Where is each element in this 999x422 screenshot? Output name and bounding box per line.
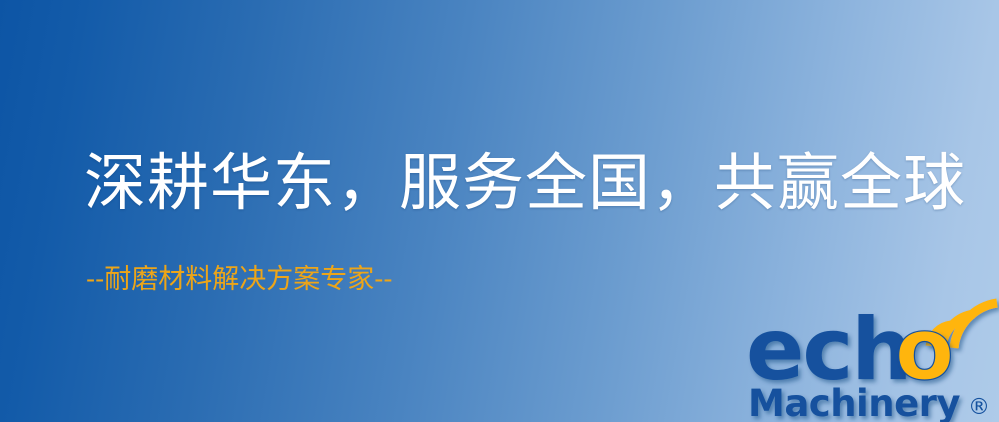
banner-subtitle: --耐磨材料解决方案专家-- — [86, 266, 393, 293]
registered-trademark-icon: ® — [968, 395, 990, 420]
promo-banner: 深耕华东，服务全国，共赢全球 --耐磨材料解决方案专家-- ech o Mach… — [0, 0, 999, 422]
banner-headline: 深耕华东，服务全国，共赢全球 — [84, 152, 966, 214]
logo-tagline: Machinery — [748, 382, 960, 422]
echo-machinery-logo: ech o Machinery ® — [744, 292, 999, 422]
